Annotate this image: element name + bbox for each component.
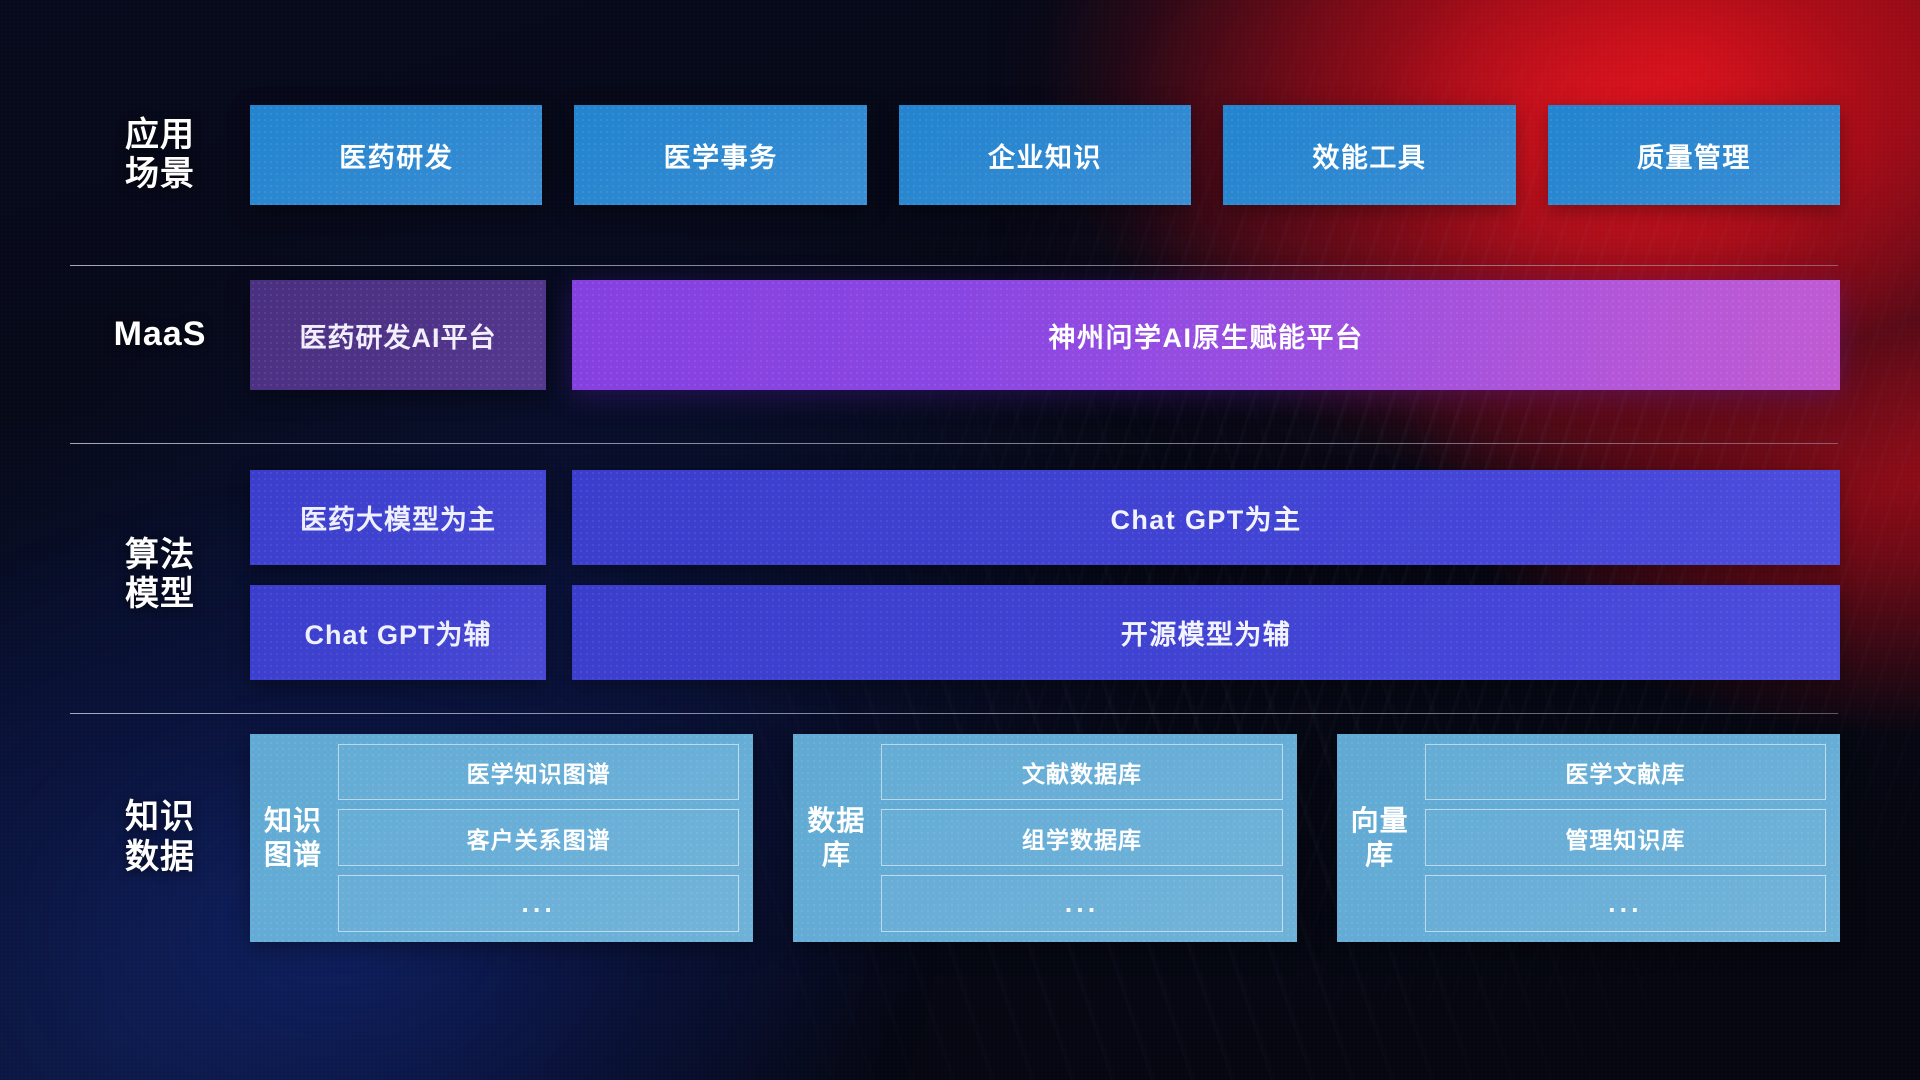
algo-card-chatgpt-secondary[interactable]: Chat GPT为辅 bbox=[250, 585, 546, 680]
knowledge-group-items: 医学知识图谱 客户关系图谱 ... bbox=[326, 744, 739, 932]
knowledge-group-vector-store[interactable]: 向量库 医学文献库 管理知识库 ... bbox=[1337, 734, 1840, 942]
app-card-medicine-rnd[interactable]: 医药研发 bbox=[250, 105, 542, 205]
app-card-quality-management[interactable]: 质量管理 bbox=[1548, 105, 1840, 205]
maas-cards: 医药研发AI平台 神州问学AI原生赋能平台 bbox=[250, 280, 1840, 390]
knowledge-item-more[interactable]: ... bbox=[1425, 875, 1826, 932]
knowledge-item-medical-knowledge-graph[interactable]: 医学知识图谱 bbox=[338, 744, 739, 801]
layer-label-line1: 算法 bbox=[70, 536, 250, 575]
layer-label-line2: 模型 bbox=[70, 575, 250, 614]
application-scenario-cards: 医药研发 医学事务 企业知识 效能工具 质量管理 bbox=[250, 105, 1840, 205]
app-card-efficiency-tools[interactable]: 效能工具 bbox=[1223, 105, 1515, 205]
knowledge-item-medical-literature-store[interactable]: 医学文献库 bbox=[1425, 744, 1826, 801]
layer-application-scenarios: 应用 场景 医药研发 医学事务 企业知识 效能工具 质量管理 bbox=[70, 100, 1840, 210]
knowledge-group-title: 知识图谱 bbox=[260, 744, 326, 932]
divider-algorithm-knowledge bbox=[70, 713, 1838, 714]
layer-maas: MaaS 医药研发AI平台 神州问学AI原生赋能平台 bbox=[70, 280, 1840, 390]
layer-label-line2: 场景 bbox=[70, 155, 250, 194]
app-card-enterprise-knowledge[interactable]: 企业知识 bbox=[899, 105, 1191, 205]
diagram-canvas: 应用 场景 医药研发 医学事务 企业知识 效能工具 质量管理 MaaS 医药研发… bbox=[0, 0, 1920, 1080]
knowledge-item-customer-relation-graph[interactable]: 客户关系图谱 bbox=[338, 809, 739, 866]
layer-knowledge-data: 知识 数据 知识图谱 医学知识图谱 客户关系图谱 ... 数据库 文献数据库 bbox=[70, 730, 1840, 945]
layer-label-line2: 数据 bbox=[70, 838, 250, 877]
algorithm-row-primary: 医药大模型为主 Chat GPT为主 bbox=[250, 470, 1840, 565]
knowledge-item-literature-database[interactable]: 文献数据库 bbox=[881, 744, 1282, 801]
knowledge-group-items: 文献数据库 组学数据库 ... bbox=[869, 744, 1282, 932]
algo-card-opensource-model-secondary[interactable]: 开源模型为辅 bbox=[572, 585, 1840, 680]
knowledge-group-title: 向量库 bbox=[1347, 744, 1413, 932]
divider-maas-algorithm bbox=[70, 443, 1838, 444]
layer-label-maas: MaaS bbox=[70, 315, 250, 354]
knowledge-item-omics-database[interactable]: 组学数据库 bbox=[881, 809, 1282, 866]
knowledge-groups: 知识图谱 医学知识图谱 客户关系图谱 ... 数据库 文献数据库 组学数据库 .… bbox=[250, 734, 1840, 942]
knowledge-item-management-knowledge-store[interactable]: 管理知识库 bbox=[1425, 809, 1826, 866]
layer-label-line1: 应用 bbox=[70, 116, 250, 155]
maas-card-pharma-ai-platform[interactable]: 医药研发AI平台 bbox=[250, 280, 546, 390]
knowledge-group-title: 数据库 bbox=[803, 744, 869, 932]
layer-label-algorithm-models: 算法 模型 bbox=[70, 536, 250, 615]
knowledge-item-more[interactable]: ... bbox=[881, 875, 1282, 932]
maas-card-shenzhou-wenxue-platform[interactable]: 神州问学AI原生赋能平台 bbox=[572, 280, 1840, 390]
algorithm-model-rows: 医药大模型为主 Chat GPT为主 Chat GPT为辅 开源模型为辅 bbox=[250, 470, 1840, 680]
algo-card-chatgpt-primary[interactable]: Chat GPT为主 bbox=[572, 470, 1840, 565]
app-card-medical-affairs[interactable]: 医学事务 bbox=[574, 105, 866, 205]
layer-label-application-scenarios: 应用 场景 bbox=[70, 116, 250, 195]
knowledge-group-database[interactable]: 数据库 文献数据库 组学数据库 ... bbox=[793, 734, 1296, 942]
algo-card-pharma-large-model-primary[interactable]: 医药大模型为主 bbox=[250, 470, 546, 565]
diagram-content: 应用 场景 医药研发 医学事务 企业知识 效能工具 质量管理 MaaS 医药研发… bbox=[0, 0, 1920, 1080]
knowledge-group-items: 医学文献库 管理知识库 ... bbox=[1413, 744, 1826, 932]
knowledge-item-more[interactable]: ... bbox=[338, 875, 739, 932]
layer-label-knowledge-data: 知识 数据 bbox=[70, 798, 250, 877]
algorithm-row-secondary: Chat GPT为辅 开源模型为辅 bbox=[250, 585, 1840, 680]
layer-label-line1: 知识 bbox=[70, 798, 250, 837]
knowledge-group-knowledge-graph[interactable]: 知识图谱 医学知识图谱 客户关系图谱 ... bbox=[250, 734, 753, 942]
layer-algorithm-models: 算法 模型 医药大模型为主 Chat GPT为主 Chat GPT为辅 开源模型… bbox=[70, 460, 1840, 690]
divider-apps-maas bbox=[70, 265, 1838, 266]
